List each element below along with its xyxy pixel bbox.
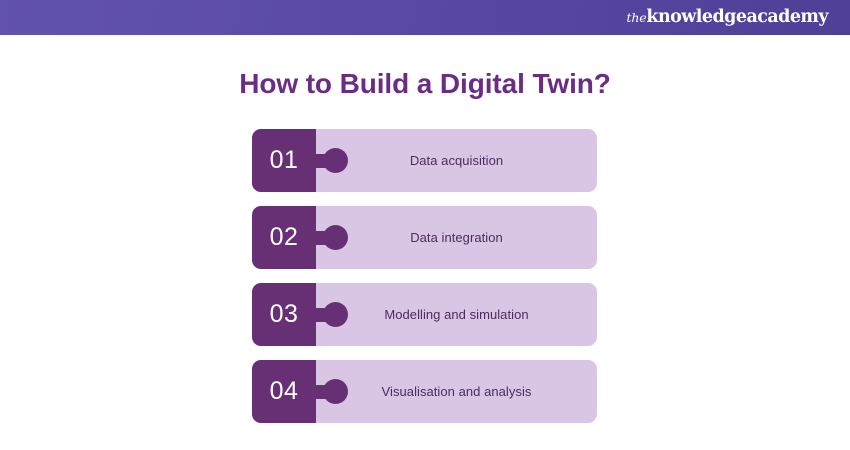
step-number-block: 02 <box>252 206 316 269</box>
page-title: How to Build a Digital Twin? <box>0 68 850 100</box>
step-number: 02 <box>270 225 299 250</box>
step-number: 03 <box>270 302 299 327</box>
step-label: Visualisation and analysis <box>316 360 597 423</box>
step-label: Data integration <box>316 206 597 269</box>
step-number-block: 04 <box>252 360 316 423</box>
brand-name-text: knowledgeacademy <box>646 9 828 27</box>
step-number: 01 <box>270 148 299 173</box>
list-item[interactable]: 01 Data acquisition <box>252 129 597 192</box>
steps-list: 01 Data acquisition 02 Data integration … <box>252 129 597 423</box>
step-label: Data acquisition <box>316 129 597 192</box>
brand-logo[interactable]: theknowledgeacademy <box>627 9 828 27</box>
brand-prefix-text: the <box>627 12 647 25</box>
header-band: theknowledgeacademy <box>0 0 850 35</box>
step-number: 04 <box>270 379 299 404</box>
list-item[interactable]: 04 Visualisation and analysis <box>252 360 597 423</box>
step-number-block: 01 <box>252 129 316 192</box>
list-item[interactable]: 02 Data integration <box>252 206 597 269</box>
list-item[interactable]: 03 Modelling and simulation <box>252 283 597 346</box>
step-label: Modelling and simulation <box>316 283 597 346</box>
step-number-block: 03 <box>252 283 316 346</box>
